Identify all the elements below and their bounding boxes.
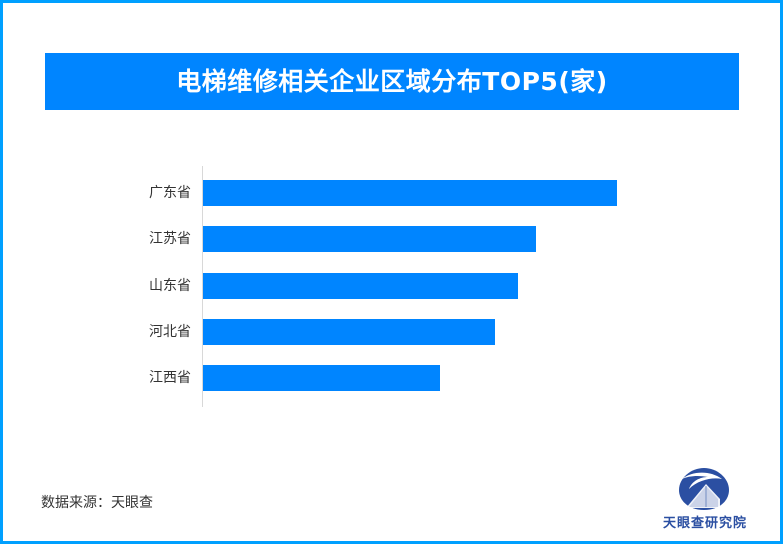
bar-category-label: 江苏省 (63, 226, 191, 252)
data-source-note: 数据来源：天眼查 (41, 492, 153, 512)
bar-row: 广东省 (3, 180, 783, 206)
bar-河北省[interactable] (203, 319, 495, 345)
bar-row: 江苏省 (3, 226, 783, 252)
bar-江西省[interactable] (203, 365, 440, 391)
bar-track (203, 365, 440, 391)
tianyancha-eye-icon (676, 467, 732, 511)
bar-广东省[interactable] (203, 180, 617, 206)
bar-category-label: 广东省 (63, 180, 191, 206)
bar-chart: 广东省 江苏省 山东省 河北省 江西省 (3, 158, 783, 418)
page-title: 电梯维修相关企业区域分布TOP5(家) (176, 69, 607, 94)
bar-category-label: 河北省 (63, 319, 191, 345)
bar-track (203, 319, 495, 345)
bar-row: 江西省 (3, 365, 783, 391)
brand-name-label: 天眼查研究院 (655, 512, 755, 531)
brand-logo: 天眼查研究院 (655, 467, 755, 533)
bar-山东省[interactable] (203, 273, 518, 299)
bar-江苏省[interactable] (203, 226, 536, 252)
infographic-canvas: 电梯维修相关企业区域分布TOP5(家) 广东省 江苏省 山东省 河北省 (0, 0, 783, 544)
bar-category-label: 山东省 (63, 273, 191, 299)
bar-track (203, 226, 536, 252)
bar-track (203, 180, 617, 206)
bar-category-label: 江西省 (63, 365, 191, 391)
chart-title-banner: 电梯维修相关企业区域分布TOP5(家) (45, 53, 739, 110)
bar-row: 河北省 (3, 319, 783, 345)
bar-row: 山东省 (3, 273, 783, 299)
bar-track (203, 273, 518, 299)
